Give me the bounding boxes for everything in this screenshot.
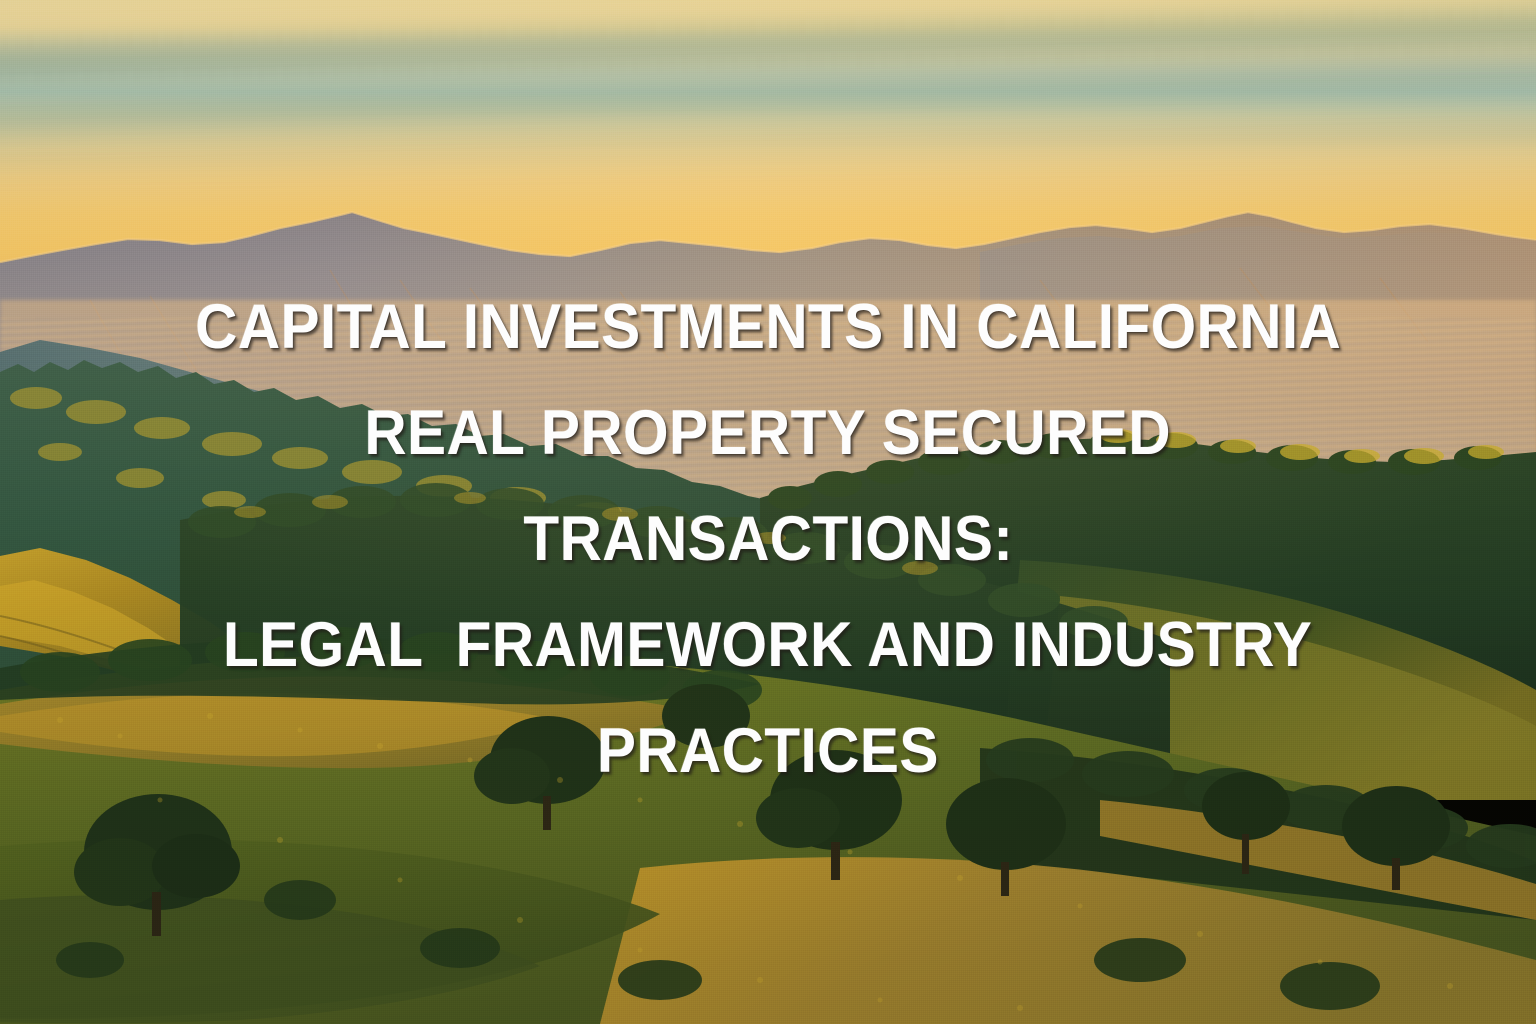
title-line-1: CAPITAL INVESTMENTS IN CALIFORNIA: [195, 274, 1341, 380]
title-card-poster: CAPITAL INVESTMENTS IN CALIFORNIA REAL P…: [0, 0, 1536, 1024]
title-line-3: TRANSACTIONS:: [523, 486, 1013, 592]
title-line-4: LEGAL FRAMEWORK AND INDUSTRY: [223, 592, 1312, 698]
title-line-2: REAL PROPERTY SECURED: [365, 380, 1172, 486]
title-line-5: PRACTICES: [597, 698, 939, 804]
